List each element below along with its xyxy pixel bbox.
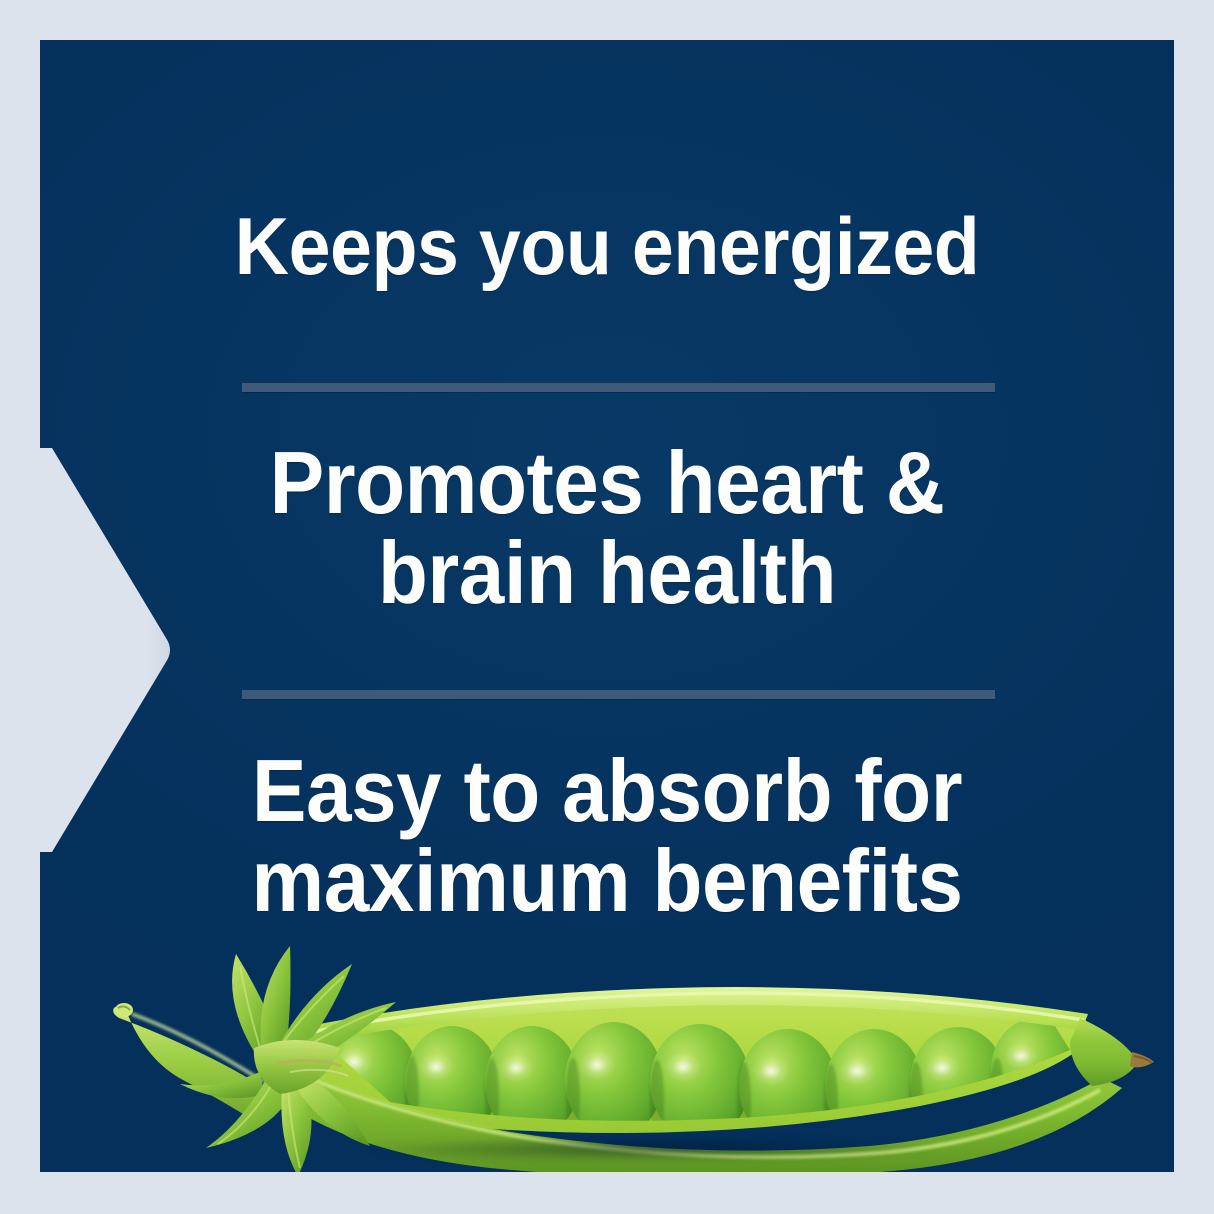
pod-tip [1070, 1018, 1154, 1086]
navy-panel: Keeps you energized Promotes heart & bra… [40, 40, 1174, 1172]
infographic-canvas: Keeps you energized Promotes heart & bra… [0, 0, 1214, 1214]
pea-pod-photo [40, 910, 1174, 1172]
divider-rule-2 [242, 690, 995, 699]
benefit-text-heart-brain: Promotes heart & brain health [80, 438, 1135, 618]
benefit-text-energy: Keeps you energized [80, 206, 1135, 289]
benefit-text-absorption: Easy to absorb for maximum benefits [80, 746, 1135, 926]
divider-rule-1 [242, 383, 995, 392]
